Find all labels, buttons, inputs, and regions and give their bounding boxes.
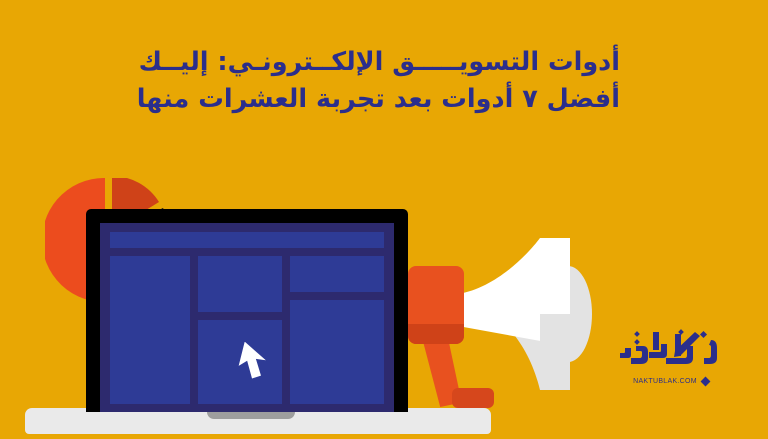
brand-url-label: NAKTUBLAK.COM [633,378,697,385]
diamond-icon [700,377,710,387]
blog-cover-canvas: أدوات التسويـــــق الإلكــترونـي: إليــك… [0,0,768,439]
page-title-line-2: أفضل ٧ أدوات بعد تجربة العشرات منها [148,81,620,118]
brand-url-row: NAKTUBLAK.COM [612,378,730,385]
brand-wordmark-icon [615,328,727,374]
screen-panel-topbar [110,232,384,248]
screen-panel-right-top [290,256,384,292]
page-title-line-1: أدوات التسويـــــق الإلكــترونـي: إليــك [148,44,620,81]
screen-panel-right-bottom [290,300,384,404]
megaphone-handle-foot [452,388,494,408]
page-title: أدوات التسويـــــق الإلكــترونـي: إليــك… [148,44,620,118]
mouse-cursor-icon [236,342,276,388]
brand-logo[interactable]: NAKTUBLAK.COM [612,328,730,385]
screen-panel-left-column [110,256,190,404]
megaphone-bell-face-shade [540,314,570,390]
megaphone-illustration [400,228,600,413]
megaphone-handle-block-shadow [408,324,464,344]
screen-panel-center-top [198,256,282,312]
